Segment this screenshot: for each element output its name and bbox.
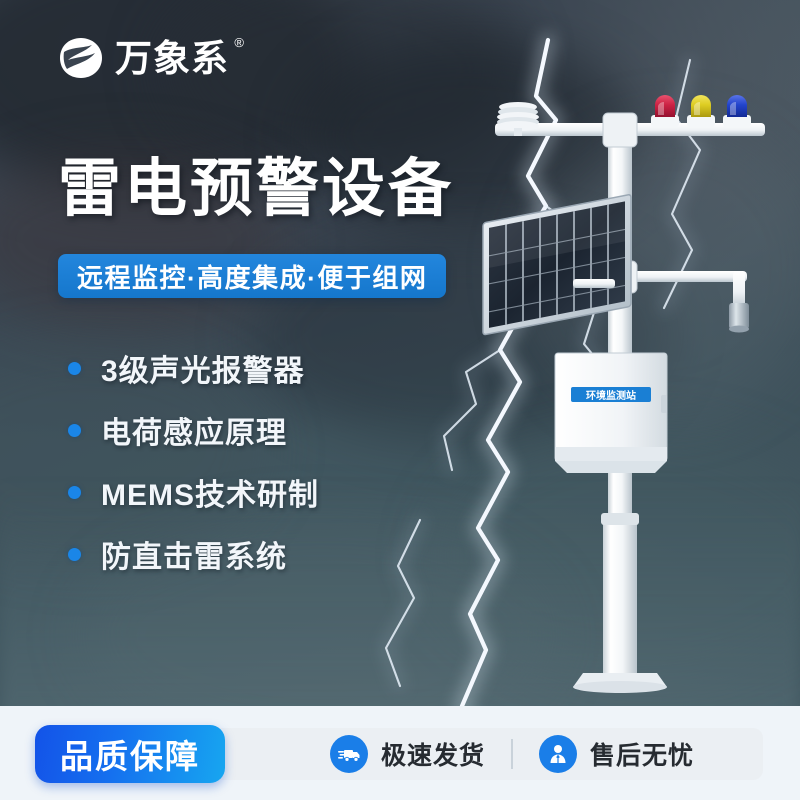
- delivery-truck-icon: [330, 735, 368, 773]
- product-image: 环境监测站: [455, 95, 800, 695]
- enclosure-latch: [661, 395, 667, 413]
- swirl-circle-logo-icon: [58, 36, 104, 80]
- bullet-dot-icon: [68, 486, 81, 499]
- quality-badge-label: 品质保障: [60, 730, 200, 778]
- customer-service-person-icon: [539, 735, 577, 773]
- downward-sensor: [729, 303, 749, 329]
- sensor-bottom: [729, 326, 749, 333]
- service-item-shipping[interactable]: 极速发货: [330, 735, 485, 773]
- quality-badge[interactable]: 品质保障: [35, 725, 225, 783]
- bullet-dot-icon: [68, 362, 81, 375]
- service-label: 售后无忧: [590, 736, 694, 772]
- subtitle-text: 远程监控·高度集成·便于组网: [77, 258, 427, 295]
- subtitle-badge: 远程监控·高度集成·便于组网: [58, 254, 446, 298]
- feature-label: 电荷感应原理: [101, 408, 287, 452]
- footer-bar: 品质保障 极速发货: [0, 706, 800, 800]
- divider: [511, 739, 513, 769]
- service-item-list: 极速发货 售后无忧: [330, 728, 694, 780]
- list-item: 电荷感应原理: [68, 410, 319, 450]
- beacon-blue: [723, 95, 751, 127]
- feature-label: 防直击雷系统: [101, 532, 287, 576]
- crossarm-clamp: [603, 113, 637, 147]
- enclosure-label-text: 环境监测站: [586, 389, 636, 402]
- brand-logo: 万象系®: [58, 36, 229, 80]
- pole-collar: [601, 513, 639, 525]
- beacon-yellow: [687, 95, 715, 127]
- control-enclosure: 环境监测站: [555, 353, 667, 473]
- product-poster: 万象系® 雷电预警设备 远程监控·高度集成·便于组网 3级声光报警器 电荷感应原…: [0, 0, 800, 800]
- alarm-beacon-array: [651, 95, 751, 127]
- bullet-dot-icon: [68, 424, 81, 437]
- feature-label: MEMS技术研制: [101, 470, 319, 514]
- list-item: 防直击雷系统: [68, 534, 319, 574]
- feature-list: 3级声光报警器 电荷感应原理 MEMS技术研制 防直击雷系统: [68, 348, 319, 574]
- feature-label: 3级声光报警器: [101, 346, 305, 390]
- service-label: 极速发货: [381, 736, 485, 772]
- registered-trademark-icon: ®: [234, 36, 245, 49]
- base-plate-edge: [573, 681, 667, 693]
- page-title: 雷电预警设备: [58, 156, 454, 223]
- beacon-red: [651, 95, 679, 127]
- enclosure-bottom-bevel: [555, 461, 667, 473]
- list-item: 3级声光报警器: [68, 348, 319, 388]
- solar-panel-strut: [573, 279, 615, 288]
- bullet-dot-icon: [68, 548, 81, 561]
- list-item: MEMS技术研制: [68, 472, 319, 512]
- brand-name: 万象系®: [115, 40, 229, 77]
- pole-lower-section: [603, 515, 637, 675]
- service-item-aftersales[interactable]: 售后无忧: [539, 735, 694, 773]
